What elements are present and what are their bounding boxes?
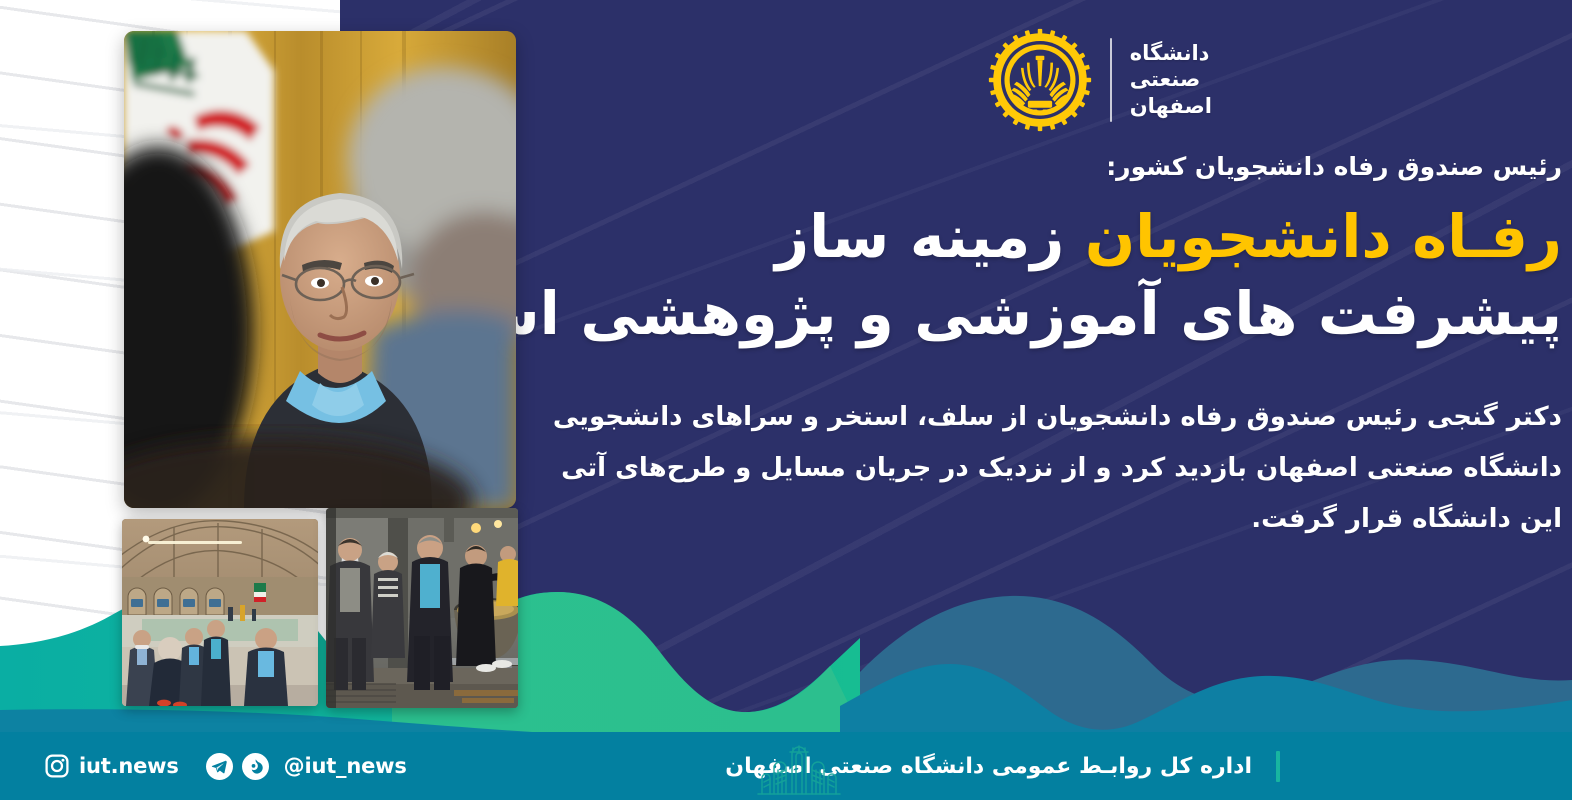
bale-icon[interactable] [242, 753, 269, 780]
photo-main-ganji-portrait [124, 31, 516, 508]
messenger-handle[interactable]: @iut_news [284, 754, 407, 778]
news-banner: دانشگاه صنعتی اصفهان [0, 0, 1572, 800]
article-kicker: رئیس صندوق رفاه دانشجویان کشور: [552, 152, 1562, 181]
instagram-handle[interactable]: iut.news [79, 754, 179, 778]
logo-line-3: اصفهان [1130, 95, 1212, 119]
headline-line-1: رفـاه دانشجویان زمینه ساز [552, 199, 1562, 276]
article-body: دکتر گنجی رئیس صندوق رفاه دانشجویان از س… [552, 392, 1562, 544]
logo-line-2: صنعتی [1130, 68, 1201, 92]
telegram-icon[interactable] [206, 753, 233, 780]
footer-social-links: iut.news @iut_news [44, 732, 407, 800]
university-name-text: دانشگاه صنعتی اصفهان [1130, 42, 1212, 119]
footer-divider [1276, 751, 1280, 782]
logo-line-1: دانشگاه [1130, 42, 1210, 66]
photo-thumb-swimming-pool [122, 519, 318, 706]
headline-line-1-rest: زمینه ساز [775, 202, 1064, 271]
footer-bar: iut.news @iut_news اداره کل روابـط عمومی… [0, 732, 1572, 800]
logo-divider [1110, 38, 1112, 122]
headline-line-2: پیشرفت های آموزشی و پژوهشی است [552, 276, 1562, 353]
photo-thumb-kitchen [326, 508, 518, 708]
article-headline: رفـاه دانشجویان زمینه ساز پیشرفت های آمو… [552, 199, 1562, 352]
monument-icon [756, 738, 842, 796]
article-text-block: رئیس صندوق رفاه دانشجویان کشور: رفـاه دا… [552, 152, 1562, 544]
iut-gear-logo-icon [988, 28, 1092, 132]
university-logo-lockup: دانشگاه صنعتی اصفهان [988, 28, 1212, 132]
instagram-icon[interactable] [44, 753, 70, 779]
headline-highlight: رفـاه دانشجویان [1085, 202, 1562, 271]
